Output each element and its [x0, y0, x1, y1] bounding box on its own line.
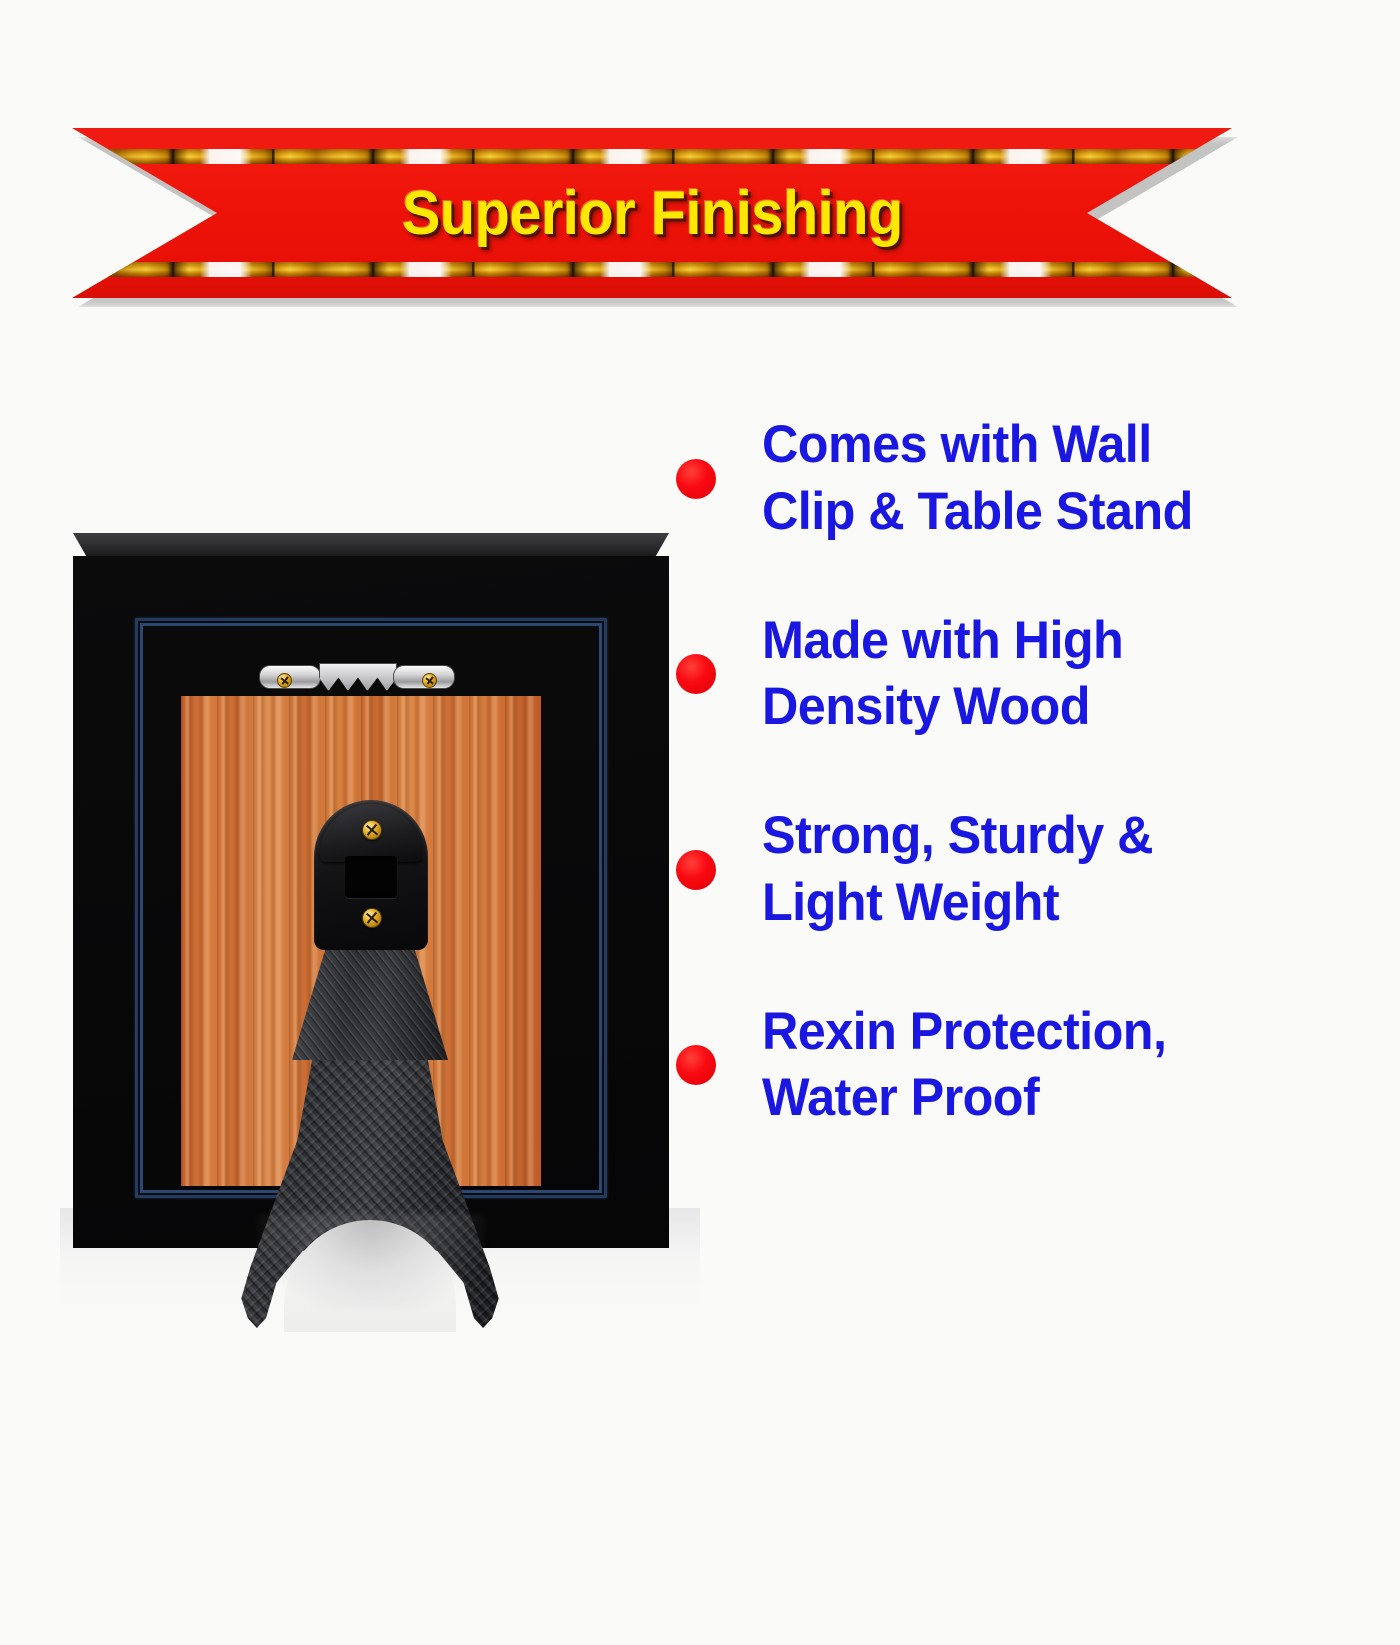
clip-plate-left [259, 665, 321, 689]
list-item: Rexin Protection, Water Proof [676, 999, 1376, 1133]
stand-top-cap [314, 800, 428, 950]
clip-screw-right-icon [422, 673, 437, 688]
list-item: Strong, Sturdy & Light Weight [676, 803, 1376, 937]
feature-list: Comes with Wall Clip & Table Stand Made … [676, 412, 1376, 1194]
list-item: Made with High Density Wood [676, 608, 1376, 742]
bullet-dot-icon [676, 1045, 716, 1085]
list-item: Comes with Wall Clip & Table Stand [676, 412, 1376, 546]
feature-text-wall-clip-table-stand: Comes with Wall Clip & Table Stand [762, 412, 1193, 546]
banner-title: Superior Finishing [402, 178, 903, 249]
feature-text-high-density-wood: Made with High Density Wood [762, 608, 1123, 742]
wall-clip-hanger-icon [259, 663, 455, 691]
bullet-dot-icon [676, 654, 716, 694]
product-photo [60, 490, 700, 1370]
banner-body: Superior Finishing [72, 128, 1232, 298]
stand-slot [345, 856, 397, 898]
stand-screw-top-icon [362, 820, 382, 840]
feature-text-strong-sturdy-light: Strong, Sturdy & Light Weight [762, 803, 1153, 937]
clip-sawtooth-icon [319, 663, 397, 691]
clip-screw-left-icon [277, 673, 292, 688]
bullet-dot-icon [676, 850, 716, 890]
stand-screw-bottom-icon [362, 908, 382, 928]
stand-reflection [256, 1214, 486, 1310]
clip-plate-right [393, 665, 455, 689]
gold-stripe-bottom-icon [72, 262, 1232, 277]
gold-stripe-top-icon [72, 149, 1232, 164]
banner-ribbon: Superior Finishing [72, 128, 1232, 298]
feature-text-rexin-water-proof: Rexin Protection, Water Proof [762, 999, 1166, 1133]
bullet-dot-icon [676, 459, 716, 499]
